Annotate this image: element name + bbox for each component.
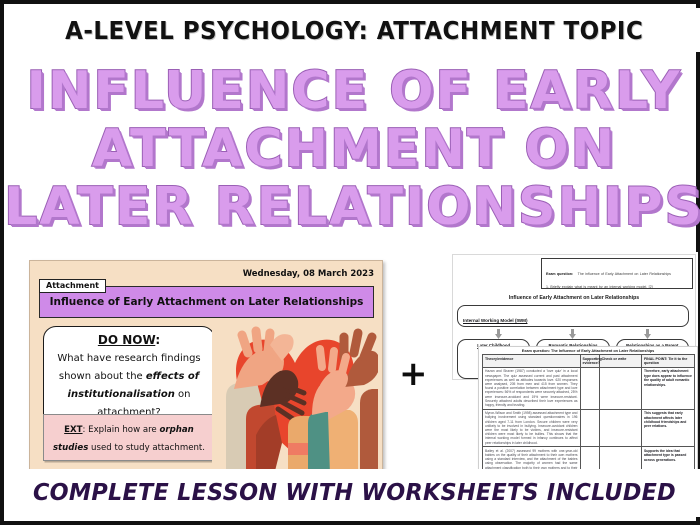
table-head: Theory/evidence Supporting evidence? Che… (483, 355, 695, 368)
exam-question-sub-item: 1. Briefly explain what is meant by an i… (546, 285, 688, 290)
top-banner-text: A-LEVEL PSYCHOLOGY: ATTACHMENT TOPIC (65, 16, 643, 45)
cell-final-point: This suggests that early attachment affe… (644, 411, 692, 429)
cell-supporting (580, 409, 599, 447)
do-now-heading-text: DO NOW (98, 333, 155, 347)
table-row: Myron-Wilson and Smith (1998) assessed a… (483, 409, 695, 447)
bottom-banner: COMPLETE LESSON WITH WORKSHEETS INCLUDED (8, 469, 700, 517)
column-header-check: Check or write (599, 355, 641, 368)
ext-box: EXT: Explain how are orphan studies used… (43, 414, 215, 461)
plus-icon: + (399, 357, 428, 391)
column-header-final-point: FINAL POINT: Tie it to the question (641, 355, 694, 368)
top-banner: A-LEVEL PSYCHOLOGY: ATTACHMENT TOPIC (8, 8, 700, 52)
ext-label: EXT (64, 425, 82, 435)
hero-title-line-3: LATER RELATIONSHIPS (4, 179, 700, 235)
down-arrow-icon (568, 329, 577, 339)
cell-theory: Myron-Wilson and Smith (1998) assessed a… (485, 411, 578, 445)
hands-heart-svg (212, 323, 378, 473)
iwm-box: Internal Working Model (IWM) (457, 305, 689, 327)
hands-holding-heart-illustration (212, 323, 378, 473)
ext-body-part2: used to study attachment. (88, 443, 205, 453)
worksheet-preview[interactable]: Exam question: The influence of Early At… (448, 252, 698, 474)
slide-inner: Wednesday, 08 March 2023 Influence of Ea… (36, 267, 376, 466)
do-now-heading-colon: : (155, 333, 160, 347)
slide-date: Wednesday, 08 March 2023 (243, 269, 374, 279)
ext-body-part1: Explain how are (88, 425, 159, 435)
worksheet-table: Theory/evidence Supporting evidence? Che… (482, 354, 695, 474)
hero-title-line-1: INFLUENCE OF EARLY (26, 63, 681, 119)
iwm-box-label: Internal Working Model (IWM) (463, 318, 527, 323)
hero-title-line-2: ATTACHMENT ON (92, 121, 616, 177)
do-now-box: DO NOW: What have research findings show… (43, 326, 215, 428)
worksheet-heading: Influence of Early Attachment on Later R… (453, 295, 695, 301)
ext-body: EXT: Explain how are orphan studies used… (53, 425, 205, 453)
cell-supporting (580, 367, 599, 409)
cell-theory: Hazan and Shaver (1987) conducted a 'lov… (485, 369, 578, 407)
do-now-heading: DO NOW: (51, 333, 207, 347)
exam-question-box: Exam question: The influence of Early At… (541, 258, 693, 289)
lesson-slide-preview[interactable]: Wednesday, 08 March 2023 Influence of Ea… (29, 260, 383, 473)
do-now-body: What have research findings shown about … (57, 353, 200, 418)
column-header-theory: Theory/evidence (483, 355, 581, 368)
cell-check (599, 409, 641, 447)
exam-question-text: The influence of Early Attachment on Lat… (578, 272, 671, 276)
topic-tab: Attachment (39, 279, 106, 293)
slide-title-text: Influence of Early Attachment on Later R… (50, 296, 364, 308)
hero-title: INFLUENCE OF EARLY ATTACHMENT ON LATER R… (8, 56, 700, 241)
cell-final-point: Supports the idea that attachment type i… (644, 449, 692, 462)
column-header-supporting: Supporting evidence? (580, 355, 599, 368)
table-body: Hazan and Shaver (1987) conducted a 'lov… (483, 367, 695, 474)
poster-root: A-LEVEL PSYCHOLOGY: ATTACHMENT TOPIC INF… (0, 0, 700, 525)
table-header-row: Theory/evidence Supporting evidence? Che… (483, 355, 695, 368)
worksheet-page-2: Exam question: The Influence of Early At… (478, 346, 698, 474)
table-row: Hazan and Shaver (1987) conducted a 'lov… (483, 367, 695, 409)
exam-question-label: Exam question: (546, 272, 573, 276)
cell-final-point: Therefore, early attachment type does ap… (644, 369, 692, 387)
bottom-banner-text: COMPLETE LESSON WITH WORKSHEETS INCLUDED (32, 480, 675, 506)
worksheet-table-title: Exam question: The Influence of Early At… (479, 347, 697, 354)
arrow-row (457, 329, 689, 339)
exam-question-line: Exam question: The influence of Early At… (546, 262, 688, 280)
down-arrow-icon (643, 329, 652, 339)
preview-strip: Wednesday, 08 March 2023 Influence of Ea… (8, 247, 700, 479)
down-arrow-icon (494, 329, 503, 339)
cell-check (599, 367, 641, 409)
